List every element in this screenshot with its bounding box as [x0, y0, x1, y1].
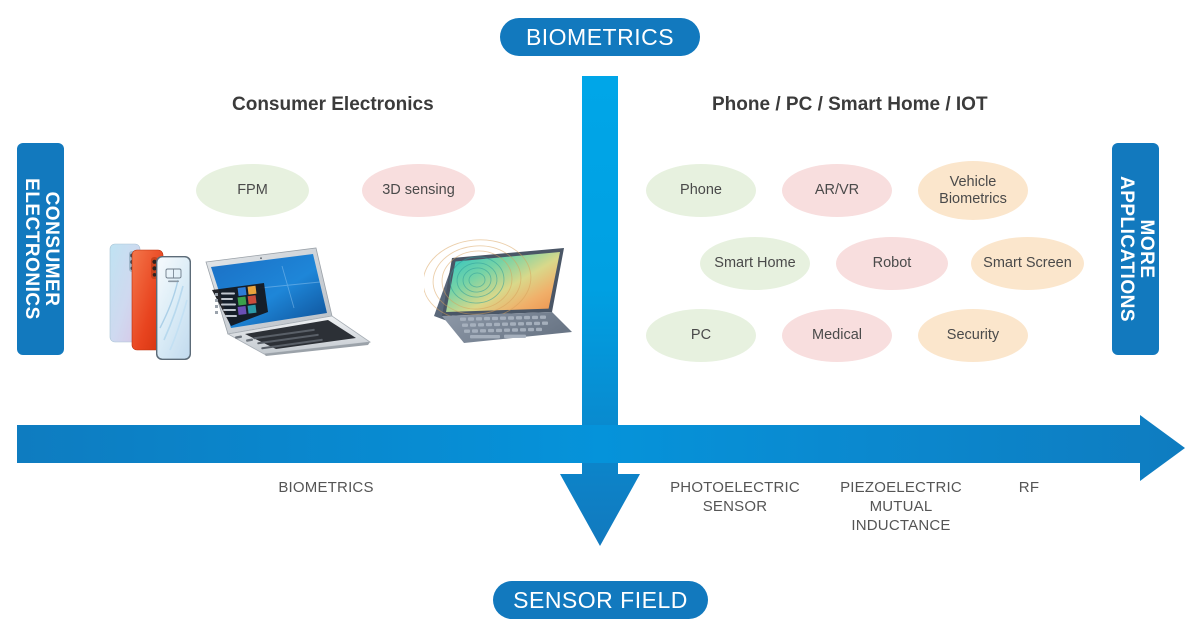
- badge-sensor-field[interactable]: SENSOR FIELD: [493, 581, 708, 619]
- chip-ar-vr[interactable]: AR/VR: [782, 164, 892, 217]
- chip-smart-home[interactable]: Smart Home: [700, 237, 810, 290]
- side-tab-consumer-electronics[interactable]: CONSUMER ELECTRONICS: [17, 143, 64, 355]
- smartphones-image: [108, 236, 204, 364]
- chip-pc[interactable]: PC: [646, 309, 756, 362]
- tablet-with-keyboard-image: [424, 228, 576, 348]
- laptop-image: [198, 246, 376, 358]
- chip-medical[interactable]: Medical: [782, 309, 892, 362]
- axis-label-biometrics: BIOMETRICS: [236, 478, 416, 497]
- heading-phone-pc-smart-home-iot: Phone / PC / Smart Home / IOT: [712, 94, 988, 116]
- side-tab-more-applications[interactable]: MORE APPLICATIONS: [1112, 143, 1159, 355]
- axis-label-piezoelectric-mutual-inductance: PIEZOELECTRIC MUTUAL INDUCTANCE: [826, 478, 976, 535]
- chip-phone[interactable]: Phone: [646, 164, 756, 217]
- axis-label-rf: RF: [982, 478, 1076, 497]
- chip-vehicle-biometrics[interactable]: Vehicle Biometrics: [918, 161, 1028, 220]
- heading-consumer-electronics: Consumer Electronics: [232, 94, 434, 116]
- diagram-canvas: BIOMETRICS SENSOR FIELD CONSUMER ELECTRO…: [0, 0, 1200, 636]
- side-tab-right-label: MORE APPLICATIONS: [1116, 143, 1156, 355]
- chip-smart-screen[interactable]: Smart Screen: [971, 237, 1084, 290]
- chip-fpm[interactable]: FPM: [196, 164, 309, 217]
- side-tab-left-label: CONSUMER ELECTRONICS: [21, 143, 61, 355]
- chip-security[interactable]: Security: [918, 309, 1028, 362]
- chip-3d-sensing[interactable]: 3D sensing: [362, 164, 475, 217]
- badge-biometrics[interactable]: BIOMETRICS: [500, 18, 700, 56]
- axis-label-photoelectric-sensor: PHOTOELECTRIC SENSOR: [660, 478, 810, 516]
- horizontal-arrow-sensor-technologies: [10, 410, 1190, 486]
- chip-robot[interactable]: Robot: [836, 237, 948, 290]
